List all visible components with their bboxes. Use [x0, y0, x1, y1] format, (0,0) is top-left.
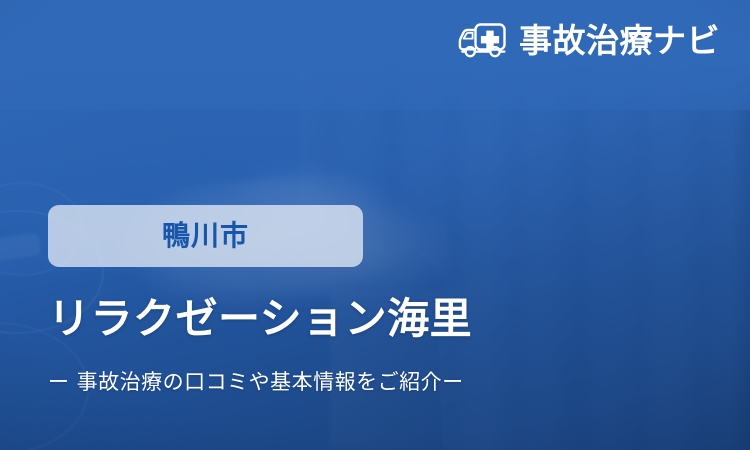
city-badge-label: 鴨川市	[162, 222, 249, 250]
site-logo[interactable]: 事故治療ナビ	[457, 18, 720, 62]
ambulance-icon	[457, 18, 509, 62]
city-badge: 鴨川市	[48, 205, 363, 267]
hero-content: 鴨川市 リラクゼーション海里 ー 事故治療の口コミや基本情報をご紹介ー	[48, 205, 648, 416]
hero-banner: 事故治療ナビ 鴨川市 リラクゼーション海里 ー 事故治療の口コミや基本情報をご紹…	[0, 0, 750, 450]
page-subtitle: ー 事故治療の口コミや基本情報をご紹介ー	[48, 370, 648, 395]
page-title: リラクゼーション海里	[48, 295, 648, 342]
logo-text: 事故治療ナビ	[519, 24, 720, 57]
